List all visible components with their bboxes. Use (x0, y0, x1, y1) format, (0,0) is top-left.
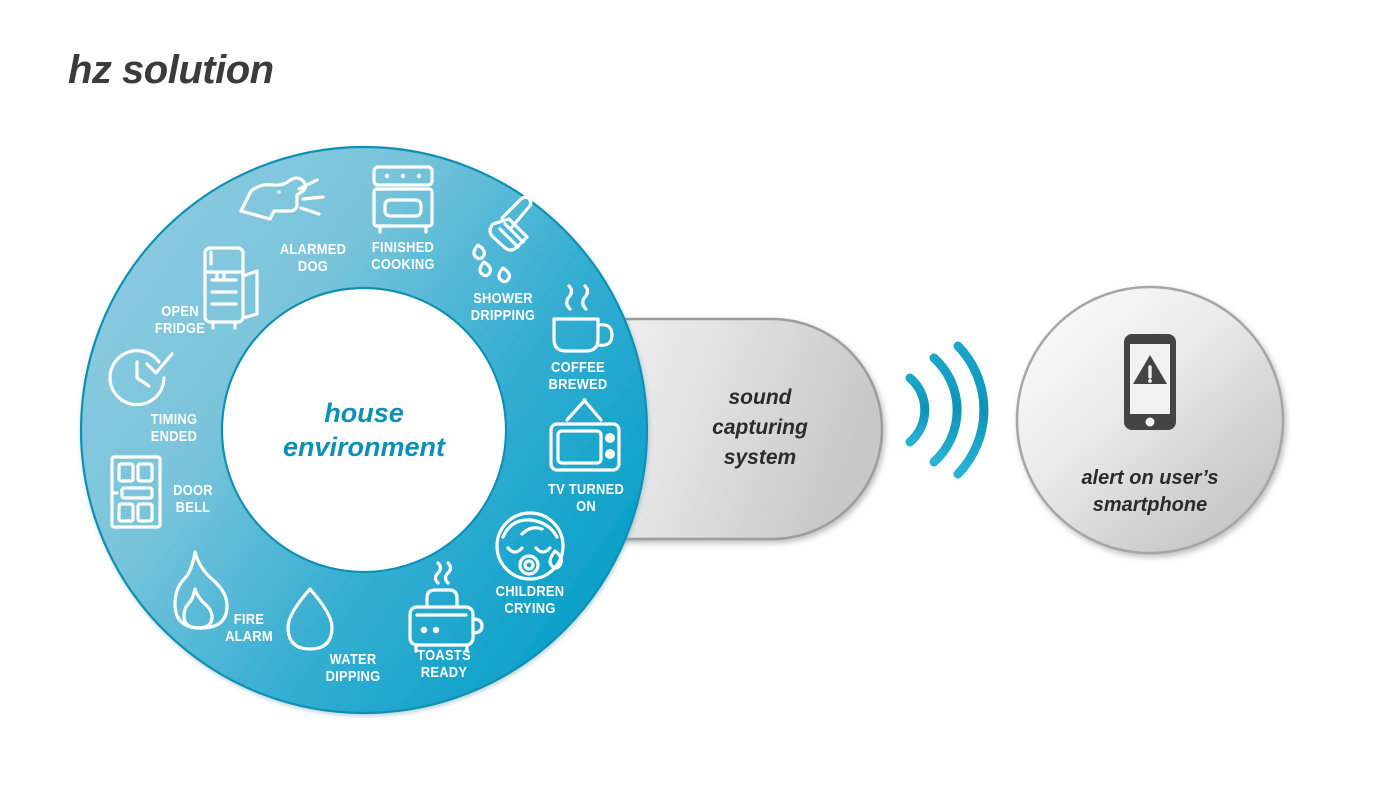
alert-label: alert on user’s smartphone (1030, 465, 1270, 519)
smartphone-alert-icon (1124, 334, 1176, 430)
ring-center-label: house environment (234, 396, 494, 464)
diagram-canvas: hz solution (0, 0, 1400, 788)
capsule-label: sound capturing system (660, 383, 860, 473)
sound-waves-icon (910, 346, 984, 474)
